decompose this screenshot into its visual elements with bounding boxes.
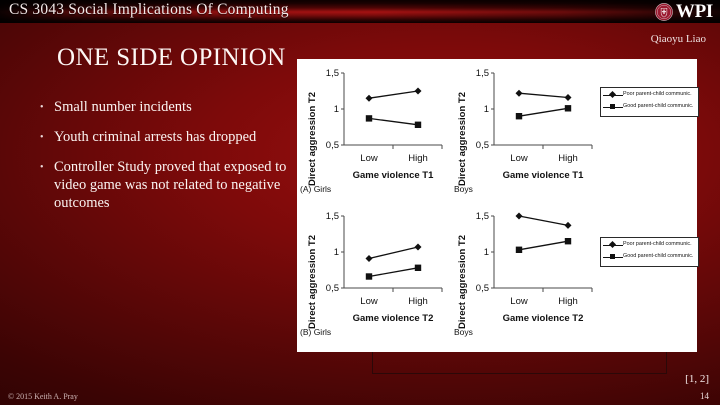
y-tick-1: 1 [334, 104, 339, 115]
bullet-list: • Small number incidents • Youth crimina… [38, 98, 290, 223]
y-tick-1: 1 [484, 104, 489, 115]
presentation-slide: CS 3043 Social Implications Of Computing… [0, 0, 720, 405]
bullet-text: Controller Study proved that exposed to … [54, 158, 290, 212]
list-item: • Youth criminal arrests has dropped [38, 128, 290, 147]
legend-entry-good: Good parent-child communic. [603, 103, 695, 113]
diamond-marker-icon [603, 241, 623, 251]
y-tick-15: 1,5 [326, 68, 339, 79]
legend-entry-poor: Poor parent-child communic. [603, 91, 695, 101]
x-tick-high: High [408, 153, 428, 164]
page-title: ONE SIDE OPINION [57, 44, 286, 72]
x-tick-high: High [558, 296, 578, 307]
y-axis-label: Direct aggression T2 [307, 235, 318, 329]
y-axis-label: Direct aggression T2 [457, 235, 468, 329]
y-tick-05: 0,5 [326, 140, 339, 151]
x-tick-low: Low [510, 296, 528, 307]
chart-legend-top: Poor parent-child communic. Good parent-… [600, 87, 699, 117]
panel-caption-b-girls: (B) Girls [300, 327, 331, 337]
wpi-wordmark: WPI [676, 2, 713, 21]
square-marker-icon [603, 253, 623, 263]
research-figure: Direct aggression T2 1,5 1 0,5 Low High [297, 59, 697, 352]
bullet-marker-icon: • [38, 158, 54, 177]
legend-entry-poor: Poor parent-child communic. [603, 241, 695, 251]
x-tick-low: Low [360, 153, 378, 164]
y-tick-05: 0,5 [476, 283, 489, 294]
x-tick-low: Low [360, 296, 378, 307]
panel-caption-a-girls: (A) Girls [300, 184, 331, 194]
author-name: Qiaoyu Liao [651, 33, 706, 45]
line-chart-a-girls: Direct aggression T2 1,5 1 0,5 Low High [305, 61, 455, 192]
line-chart-b-boys: Direct aggression T2 1,5 1 0,5 Low High [455, 204, 605, 335]
panel-caption-b-boys: Boys [454, 327, 473, 337]
y-axis-label: Direct aggression T2 [457, 92, 468, 186]
chart-legend-bottom: Poor parent-child communic. Good parent-… [600, 237, 699, 267]
wpi-logo: WPI [655, 0, 713, 23]
square-marker-icon [603, 103, 623, 113]
page-number: 14 [700, 391, 709, 401]
x-axis-label: Game violence T2 [353, 313, 434, 324]
legend-label-good: Good parent-child communic. [623, 103, 693, 109]
legend-label-poor: Poor parent-child communic. [623, 91, 692, 97]
legend-label-poor: Poor parent-child communic. [623, 241, 692, 247]
y-axis-label: Direct aggression T2 [307, 92, 318, 186]
list-item: • Controller Study proved that exposed t… [38, 158, 290, 212]
x-axis-label: Game violence T1 [353, 170, 435, 181]
y-tick-05: 0,5 [326, 283, 339, 294]
legend-label-good: Good parent-child communic. [623, 253, 693, 259]
chart-panel-a-boys: Direct aggression T2 1,5 1 0,5 Low High [455, 61, 605, 192]
x-tick-high: High [558, 153, 578, 164]
bullet-marker-icon: • [38, 128, 54, 147]
x-tick-high: High [408, 296, 428, 307]
y-tick-15: 1,5 [476, 211, 489, 222]
citation-reference: [1, 2] [685, 373, 709, 385]
x-axis-label: Game violence T1 [503, 170, 585, 181]
x-axis-label: Game violence T2 [503, 313, 584, 324]
line-chart-b-girls: Direct aggression T2 1,5 1 0,5 Low High [305, 204, 455, 335]
y-tick-15: 1,5 [326, 211, 339, 222]
chart-panel-a-girls: Direct aggression T2 1,5 1 0,5 Low High [305, 61, 455, 192]
legend-entry-good: Good parent-child communic. [603, 253, 695, 263]
course-title: CS 3043 Social Implications Of Computing [9, 1, 289, 19]
bullet-text: Youth criminal arrests has dropped [54, 128, 256, 146]
panel-caption-a-boys: Boys [454, 184, 473, 194]
bullet-text: Small number incidents [54, 98, 192, 116]
wpi-seal-icon [655, 3, 673, 21]
x-tick-low: Low [510, 153, 528, 164]
y-tick-1: 1 [484, 247, 489, 258]
diamond-marker-icon [603, 91, 623, 101]
line-chart-a-boys: Direct aggression T2 1,5 1 0,5 Low High [455, 61, 605, 192]
y-tick-1: 1 [334, 247, 339, 258]
bullet-marker-icon: • [38, 98, 54, 117]
y-tick-15: 1,5 [476, 68, 489, 79]
chart-panel-b-girls: Direct aggression T2 1,5 1 0,5 Low High [305, 204, 455, 335]
y-tick-05: 0,5 [476, 140, 489, 151]
copyright-notice: © 2015 Keith A. Pray [8, 392, 78, 401]
list-item: • Small number incidents [38, 98, 290, 117]
chart-panel-b-boys: Direct aggression T2 1,5 1 0,5 Low High [455, 204, 605, 335]
